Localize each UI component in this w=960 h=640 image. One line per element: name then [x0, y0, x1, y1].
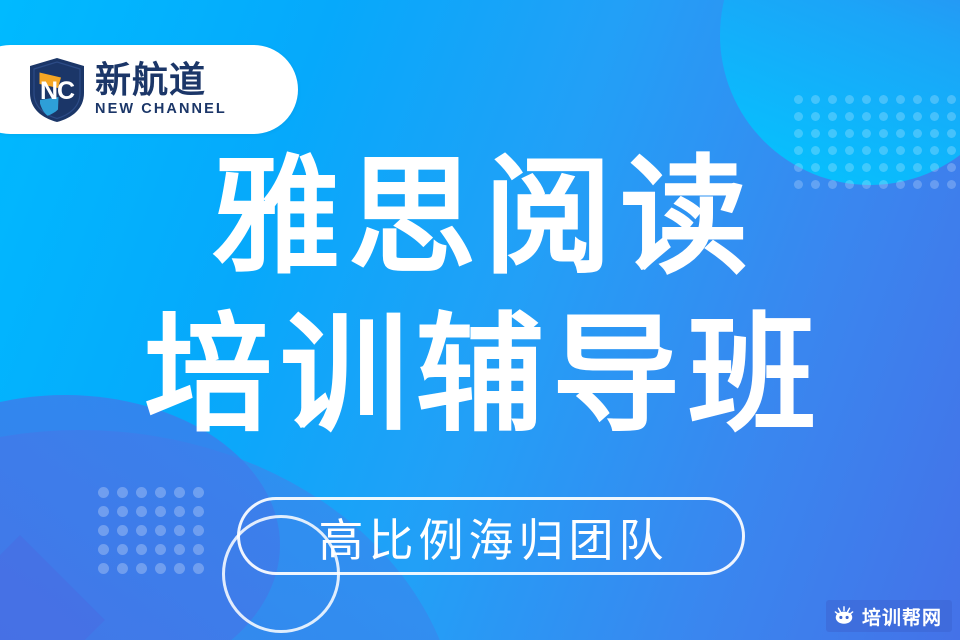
dot: [930, 129, 939, 138]
sun-face-icon: [833, 605, 855, 627]
dot: [828, 95, 837, 104]
dot: [930, 95, 939, 104]
dot-grid-row: [98, 525, 212, 544]
dot-grid-row: [794, 129, 960, 146]
dot-grid-row: [98, 487, 212, 506]
dot: [828, 112, 837, 121]
dot: [896, 112, 905, 121]
dot: [155, 506, 166, 517]
poster-canvas: NC 新航道 NEW CHANNEL 雅思阅读 培训辅导班 高比例海归团队: [0, 0, 960, 640]
dot: [174, 563, 185, 574]
dot: [193, 487, 204, 498]
dot: [811, 95, 820, 104]
dot: [98, 525, 109, 536]
dot: [913, 95, 922, 104]
dot: [862, 95, 871, 104]
dot: [794, 95, 803, 104]
svg-text:NC: NC: [40, 77, 75, 105]
dot: [174, 487, 185, 498]
dot: [794, 112, 803, 121]
dot: [862, 112, 871, 121]
headline-line-2: 培训辅导班: [0, 308, 960, 444]
dot-grid-row: [794, 112, 960, 129]
dot: [193, 506, 204, 517]
brand-name-en: NEW CHANNEL: [95, 101, 227, 118]
dot: [155, 563, 166, 574]
subtitle-pill: 高比例海归团队: [237, 497, 745, 575]
dot: [811, 112, 820, 121]
dot: [896, 95, 905, 104]
watermark-text: 培训帮网: [862, 603, 942, 630]
dot: [136, 506, 147, 517]
dot: [155, 487, 166, 498]
dot: [845, 112, 854, 121]
dot: [845, 95, 854, 104]
brand-wordmark: 新航道 NEW CHANNEL: [95, 61, 227, 119]
dot: [913, 112, 922, 121]
dot: [913, 129, 922, 138]
nc-shield-icon: NC: [28, 57, 86, 123]
subtitle-text: 高比例海归团队: [313, 504, 668, 569]
dot: [794, 129, 803, 138]
dot: [117, 544, 128, 555]
dot: [845, 129, 854, 138]
dot: [117, 506, 128, 517]
dot: [174, 544, 185, 555]
brand-name-cn: 新航道: [95, 61, 227, 99]
wedge-decoration-bottom-left: [0, 535, 105, 640]
headline-block: 雅思阅读 培训辅导班: [0, 150, 960, 444]
dot: [930, 112, 939, 121]
dot: [879, 95, 888, 104]
dot: [98, 544, 109, 555]
dot: [136, 544, 147, 555]
dot: [862, 129, 871, 138]
dot: [98, 487, 109, 498]
headline-line-1: 雅思阅读: [0, 150, 960, 286]
dot-grid-row: [98, 563, 212, 582]
dot: [174, 506, 185, 517]
dot: [174, 525, 185, 536]
dot: [193, 563, 204, 574]
brand-logo-pill: NC 新航道 NEW CHANNEL: [0, 45, 298, 134]
dot: [155, 525, 166, 536]
dot: [155, 544, 166, 555]
dot: [136, 487, 147, 498]
dot: [117, 487, 128, 498]
dot: [193, 544, 204, 555]
dot: [117, 525, 128, 536]
dot: [98, 506, 109, 517]
dot: [193, 525, 204, 536]
dot: [98, 563, 109, 574]
dot-grid-bottom-left: [98, 487, 212, 582]
dot: [117, 563, 128, 574]
dot-grid-row: [98, 506, 212, 525]
dot: [811, 129, 820, 138]
dot: [828, 129, 837, 138]
dot: [879, 112, 888, 121]
dot: [947, 129, 956, 138]
dot: [896, 129, 905, 138]
dot: [136, 563, 147, 574]
dot: [947, 112, 956, 121]
dot: [136, 525, 147, 536]
dot: [947, 95, 956, 104]
dot-grid-row: [98, 544, 212, 563]
watermark-badge: 培训帮网: [826, 600, 952, 632]
dot: [879, 129, 888, 138]
dot-grid-row: [794, 95, 960, 112]
